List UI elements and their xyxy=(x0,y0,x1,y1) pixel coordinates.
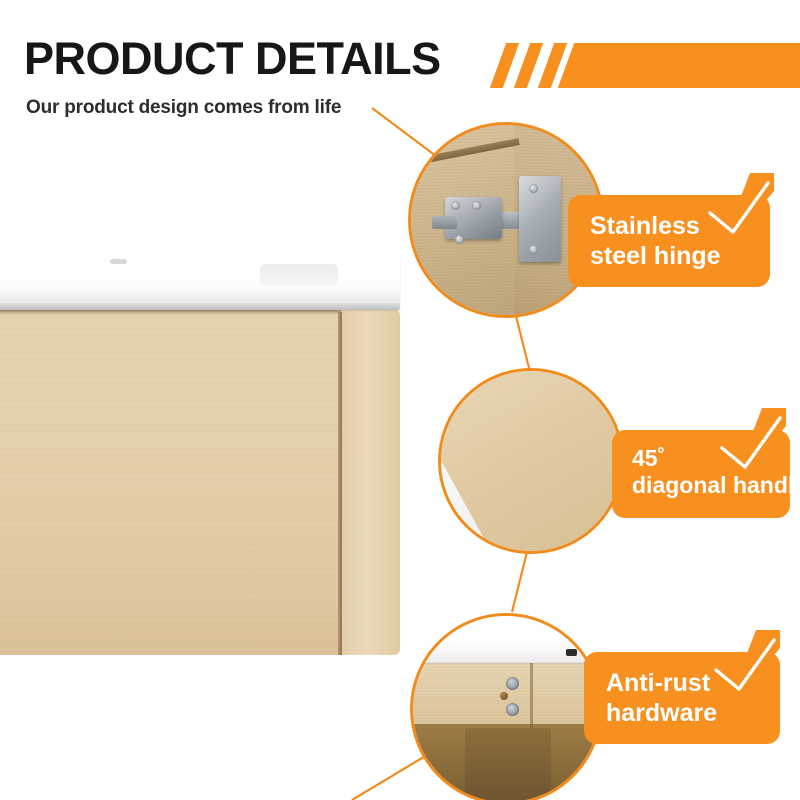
feature-label-45-degree-diagonal-handle: 45˚ diagonal handle xyxy=(632,445,800,499)
feature-photo-anti-rust-hardware xyxy=(410,613,602,800)
sink-underside-shadow xyxy=(0,303,400,310)
feature-label-line1: 45˚ xyxy=(632,445,665,471)
diagonal-handle-photo xyxy=(441,371,621,551)
feature-label-stainless-steel-hinge: Stainless steel hinge xyxy=(590,212,721,271)
feature-label-line2: steel hinge xyxy=(590,242,721,270)
hinge-release-tab xyxy=(432,216,457,229)
hardware-inner-panel xyxy=(465,728,551,800)
sink-bowl xyxy=(260,264,338,286)
feature-photo-45-degree-diagonal-handle xyxy=(438,368,624,554)
vanity-door-gap xyxy=(338,312,342,655)
feature-label-anti-rust-hardware: Anti-rust hardware xyxy=(606,669,717,728)
feature-badge-45-degree-diagonal-handle: 45˚ diagonal handle xyxy=(612,430,790,518)
hinge-screw-icon xyxy=(529,245,538,254)
header-accent-bar xyxy=(558,43,800,88)
sink-tap-hole xyxy=(110,259,127,264)
feature-label-line1: Stainless xyxy=(590,212,700,240)
header-slash-2 xyxy=(514,43,543,88)
feature-label-line2: hardware xyxy=(606,699,717,727)
feature-badge-anti-rust-hardware: Anti-rust hardware xyxy=(584,652,780,744)
connector-circle1-to-circle2 xyxy=(516,316,530,372)
hinge-mounting-plate xyxy=(519,176,561,262)
vanity-top-shadow xyxy=(0,310,354,315)
product-details-infographic: PRODUCT DETAILS Our product design comes… xyxy=(0,0,800,800)
product-photo-vanity xyxy=(0,255,400,655)
hinge-screw-icon xyxy=(472,201,481,210)
vanity-side-panel xyxy=(341,307,400,655)
anti-rust-hardware-photo xyxy=(413,616,599,800)
feature-label-line1: Anti-rust xyxy=(606,669,710,697)
hardware-countertop-notch xyxy=(566,649,577,656)
vanity-cabinet-front xyxy=(0,310,354,655)
page-title: PRODUCT DETAILS xyxy=(24,36,441,81)
vanity-sink-top xyxy=(0,255,400,310)
feature-label-line2: diagonal handle xyxy=(632,472,800,498)
hinge-screw-icon xyxy=(455,235,464,244)
page-subtitle: Our product design comes from life xyxy=(26,97,341,119)
hardware-panel-seam xyxy=(530,663,533,728)
hinge-screw-icon xyxy=(529,184,538,193)
hinge-screw-icon xyxy=(451,201,460,210)
connector-circle2-to-circle3 xyxy=(512,552,527,612)
feature-badge-stainless-steel-hinge: Stainless steel hinge xyxy=(568,195,770,287)
header-slash-1 xyxy=(490,43,519,88)
